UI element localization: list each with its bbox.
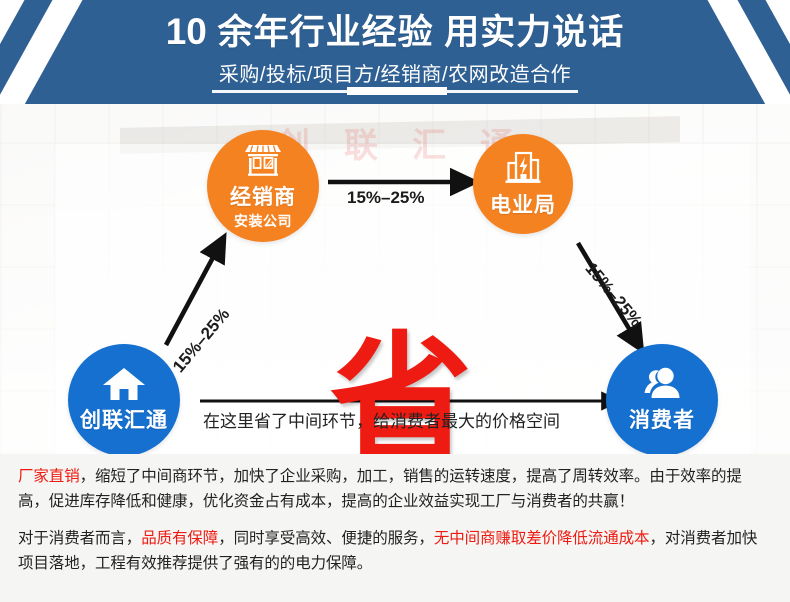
node-dealer[interactable]: 经销商 安装公司 bbox=[207, 130, 319, 242]
footer-p1-rest: ，缩短了中间商环节，加快了企业采购，加工，销售的运转速度，提高了周转效率。由于效… bbox=[18, 468, 742, 510]
footer-text-block: 厂家直销，缩短了中间商环节，加快了企业采购，加工，销售的运转速度，提高了周转效率… bbox=[0, 454, 790, 602]
power-building-icon bbox=[503, 150, 543, 186]
node-dealer-label: 经销商 bbox=[230, 181, 296, 211]
footer-p1-highlight: 厂家直销 bbox=[18, 468, 80, 485]
node-consumer-label: 消费者 bbox=[629, 404, 695, 434]
footer-p2-lead: 对于消费者而言， bbox=[18, 530, 141, 547]
diagram-stage: 创联汇通 省 bbox=[0, 104, 790, 454]
arrow-label-dealer-to-power: 15%–25% bbox=[347, 188, 425, 208]
node-company[interactable]: 创联汇通 bbox=[68, 344, 180, 454]
banner-title-number: 10 bbox=[166, 11, 207, 52]
users-icon bbox=[639, 367, 685, 401]
footer-paragraph-2: 对于消费者而言，品质有保障，同时享受高效、便捷的服务，无中间商赚取差价降低流通成… bbox=[18, 526, 772, 576]
node-power-bureau-label: 电业局 bbox=[490, 189, 556, 219]
promo-infographic: 10 余年行业经验 用实力说话 采购/投标/项目方/经销商/农网改造合作 创联汇… bbox=[0, 0, 790, 602]
banner-divider-center bbox=[347, 87, 447, 95]
footer-p2-highlight-1: 品质有保障 bbox=[141, 530, 218, 547]
header-banner: 10 余年行业经验 用实力说话 采购/投标/项目方/经销商/农网改造合作 bbox=[0, 0, 790, 104]
shop-icon bbox=[241, 142, 285, 178]
home-icon bbox=[102, 367, 146, 401]
node-company-label: 创联汇通 bbox=[80, 404, 168, 434]
banner-subtitle: 采购/投标/项目方/经销商/农网改造合作 bbox=[0, 58, 790, 87]
banner-title: 10 余年行业经验 用实力说话 bbox=[0, 12, 790, 53]
node-power-bureau[interactable]: 电业局 bbox=[473, 134, 573, 234]
banner-title-text: 余年行业经验 用实力说话 bbox=[218, 13, 625, 52]
node-dealer-sublabel: 安装公司 bbox=[234, 211, 292, 231]
footer-p2-highlight-2: 无中间商赚取差价降低流通成本 bbox=[434, 530, 650, 547]
node-consumer[interactable]: 消费者 bbox=[606, 344, 718, 454]
banner-text-group: 10 余年行业经验 用实力说话 采购/投标/项目方/经销商/农网改造合作 bbox=[0, 0, 790, 87]
arrow-label-company-to-consumer: 在这里省了中间环节，给消费者最大的价格空间 bbox=[203, 407, 560, 432]
footer-paragraph-1: 厂家直销，缩短了中间商环节，加快了企业采购，加工，销售的运转速度，提高了周转效率… bbox=[18, 464, 772, 514]
big-save-character: 省 bbox=[330, 340, 472, 454]
footer-p2-middle: ，同时享受高效、便捷的服务， bbox=[218, 530, 434, 547]
